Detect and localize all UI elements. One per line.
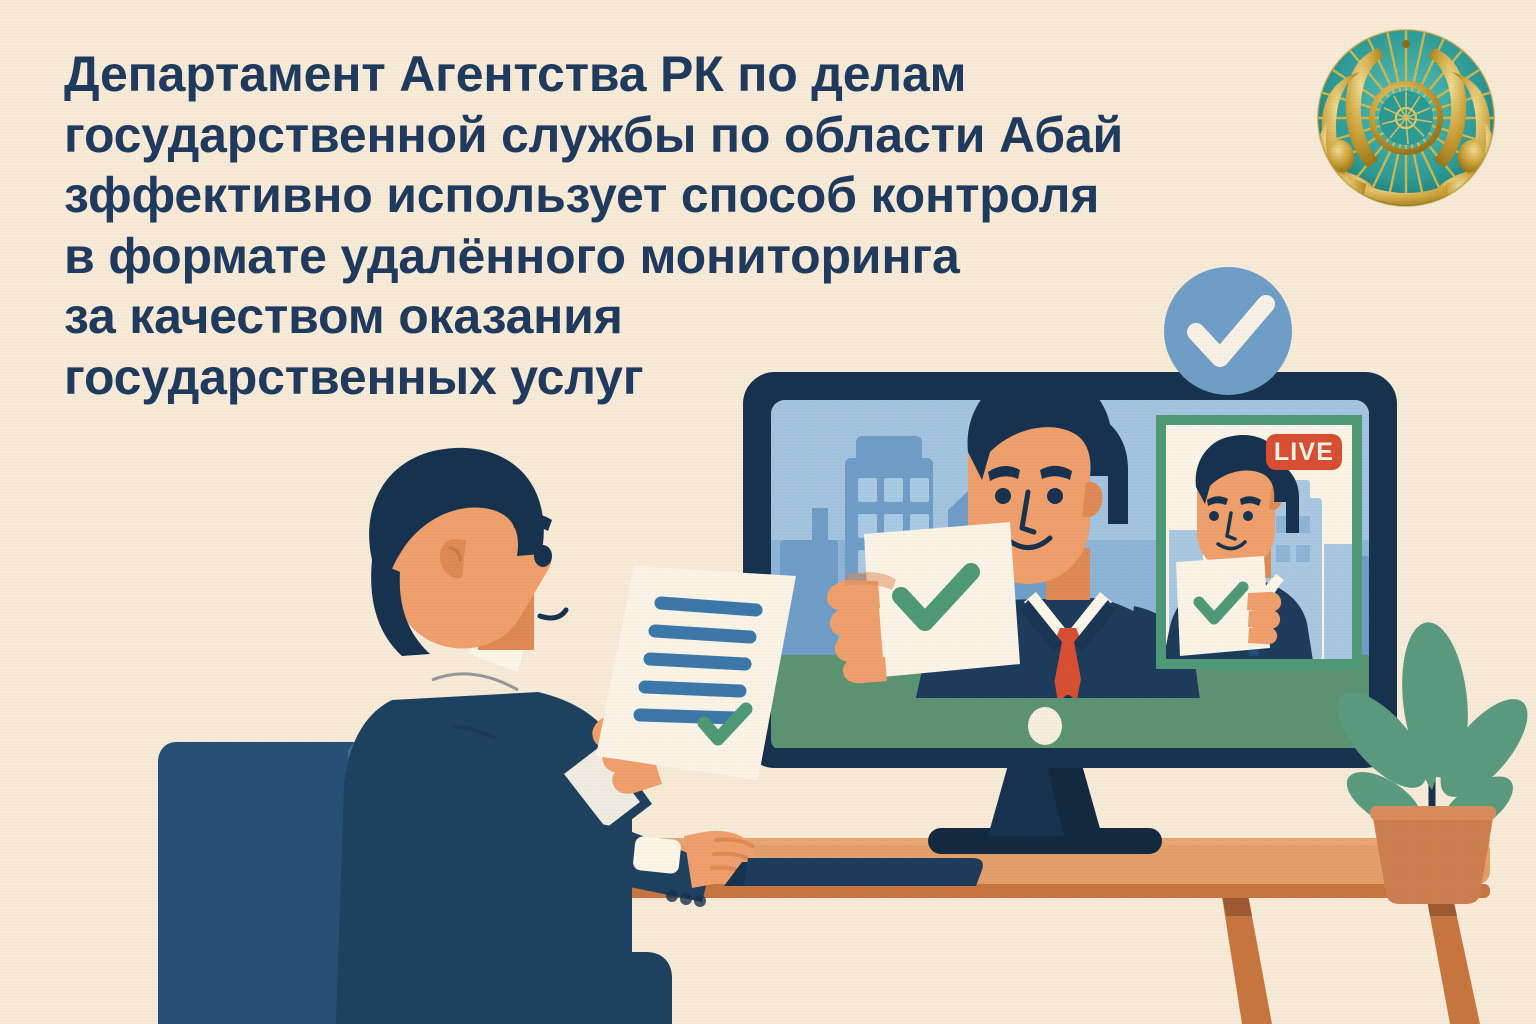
plant-pot-rim: [1370, 806, 1496, 820]
live-badge: LIVE: [1266, 434, 1342, 470]
keyboard: [724, 858, 983, 886]
officer-cuff: [632, 836, 681, 875]
kazakhstan-state-emblem: [1316, 22, 1496, 218]
monitor-power-dot: [1028, 707, 1062, 745]
monitor-chin: [771, 698, 1369, 750]
inset-hand: [1247, 592, 1281, 644]
live-badge-label: LIVE: [1274, 438, 1334, 466]
verified-document-main: [864, 522, 1020, 678]
infographic-poster: LIVE: [0, 0, 1536, 1024]
page-title: Департамент Агентства РК по делам госуда…: [64, 44, 1184, 407]
live-inset-card: LIVE: [1156, 415, 1362, 669]
plant-pot: [1372, 812, 1494, 904]
